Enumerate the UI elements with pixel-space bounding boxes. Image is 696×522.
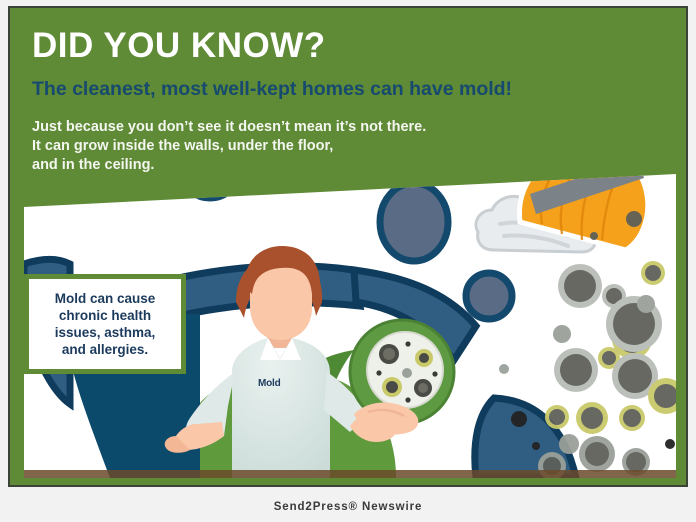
page-subtitle: The cleanest, most well-kept homes can h… <box>32 80 512 100</box>
callout-text: Mold can cause chronic health issues, as… <box>55 290 156 358</box>
callout-line-4: and allergies. <box>55 341 156 358</box>
infographic-image: DID YOU KNOW? The cleanest, most well-ke… <box>0 0 696 522</box>
callout-box: Mold can cause chronic health issues, as… <box>24 274 186 374</box>
body-line-3: and in the ceiling. <box>32 156 426 175</box>
poster-panel: DID YOU KNOW? The cleanest, most well-ke… <box>8 6 688 487</box>
callout-line-3: issues, asthma, <box>55 324 156 341</box>
shirt-logo: Mold <box>258 378 281 389</box>
page-title: DID YOU KNOW? <box>32 28 326 63</box>
callout-line-1: Mold can cause <box>55 290 156 307</box>
broom-icon <box>476 174 676 252</box>
body-line-1: Just because you don’t see it doesn’t me… <box>32 118 426 137</box>
scene-ground-line <box>24 470 676 478</box>
footer-bar: Send2Press® Newswire <box>0 492 696 522</box>
page-body-text: Just because you don’t see it doesn’t me… <box>32 118 426 175</box>
newswire-credit: Send2Press® Newswire <box>274 501 423 513</box>
body-line-2: It can grow inside the walls, under the … <box>32 137 426 156</box>
callout-line-2: chronic health <box>55 307 156 324</box>
petri-dish-icon <box>350 320 454 435</box>
